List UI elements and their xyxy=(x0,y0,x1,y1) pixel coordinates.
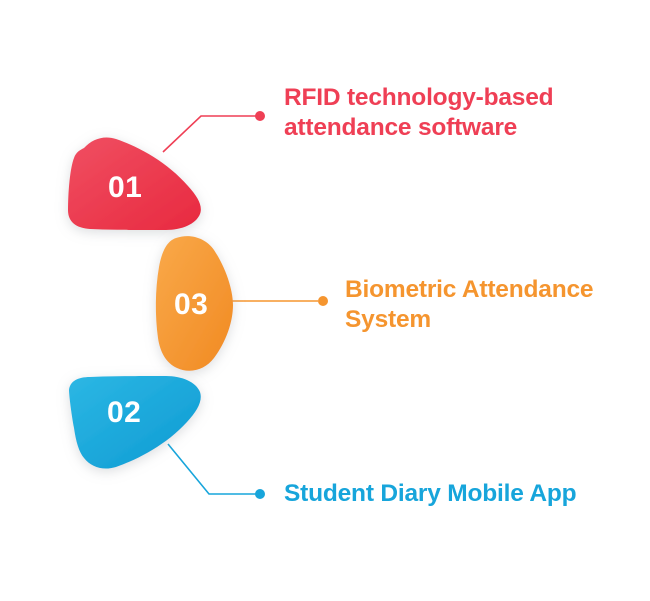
segment-label-01: RFID technology-based attendance softwar… xyxy=(284,83,614,143)
segment-number-02: 02 xyxy=(107,396,141,430)
infographic-diagram: 01 03 02 RFID technology-based attendanc… xyxy=(0,0,650,601)
connector-line-03 xyxy=(232,296,328,306)
segment-label-02: Student Diary Mobile App xyxy=(284,479,624,509)
segment-number-01: 01 xyxy=(108,171,142,205)
segment-label-03: Biometric Attendance System xyxy=(345,275,645,335)
connector-line-02 xyxy=(168,444,265,499)
segment-number-03: 03 xyxy=(174,288,208,322)
connector-line-01 xyxy=(163,111,265,152)
